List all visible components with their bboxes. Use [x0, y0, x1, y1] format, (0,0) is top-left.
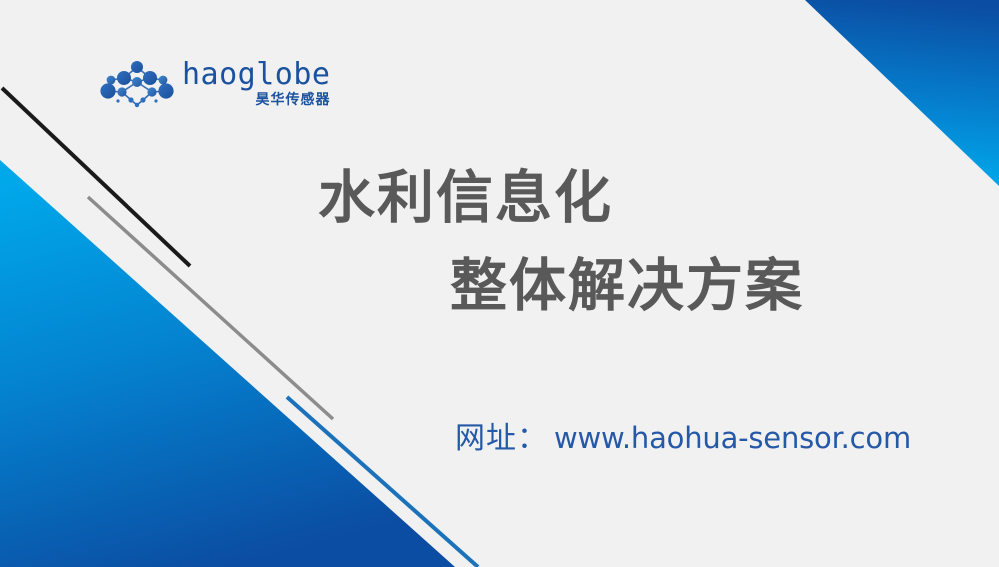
- website-line: 网址： www.haohua-sensor.com: [455, 420, 911, 457]
- slide-title: 水利信息化 整体解决方案: [300, 165, 900, 319]
- diagonal-line-gray: [88, 197, 333, 419]
- diagonal-line-blue: [287, 397, 478, 567]
- logo-subtitle: 昊华传感器: [256, 92, 331, 108]
- website-label: 网址：: [455, 421, 548, 457]
- logo-wordmark: haoglobe: [182, 60, 331, 90]
- top-right-triangle: [805, 0, 999, 186]
- company-logo: haoglobe 昊华传感器: [98, 58, 331, 112]
- website-url[interactable]: www.haohua-sensor.com: [554, 420, 911, 456]
- logo-text-block: haoglobe 昊华传感器: [182, 58, 331, 108]
- haoglobe-network-logo-icon: [98, 58, 176, 112]
- diagonal-line-black: [2, 88, 190, 266]
- title-line-1: 水利信息化: [318, 165, 900, 231]
- presentation-slide: haoglobe 昊华传感器 水利信息化 整体解决方案 网址： www.haoh…: [0, 0, 999, 567]
- title-line-2: 整体解决方案: [450, 253, 900, 319]
